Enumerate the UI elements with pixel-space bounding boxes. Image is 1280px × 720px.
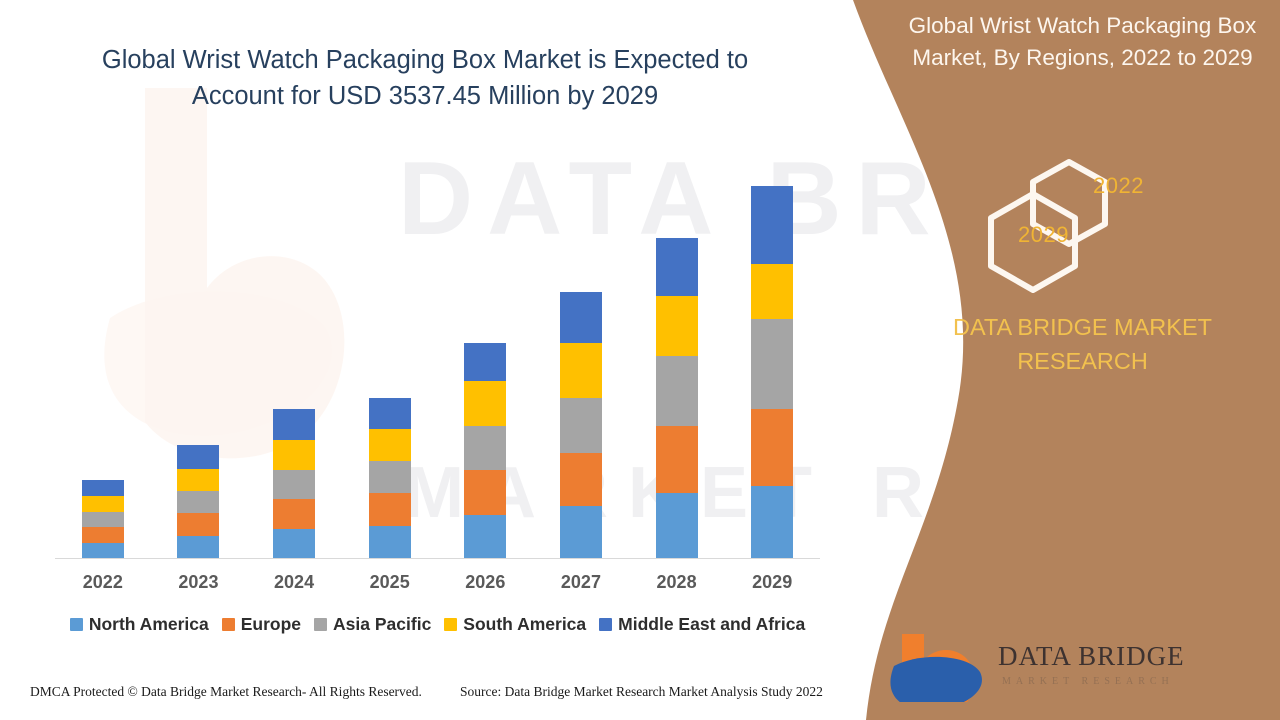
hexagon-label-2029: 2029 <box>1018 222 1069 248</box>
bar-segment[interactable] <box>751 186 793 264</box>
bar-segment[interactable] <box>273 470 315 499</box>
hexagon-pair-icon <box>985 140 1185 300</box>
bar-segment[interactable] <box>751 409 793 486</box>
bar-group[interactable] <box>82 480 124 558</box>
bar-segment[interactable] <box>751 319 793 409</box>
x-axis-tick: 2027 <box>560 572 602 593</box>
bar-segment[interactable] <box>369 526 411 558</box>
bar-segment[interactable] <box>369 429 411 461</box>
legend-swatch-icon <box>599 618 612 631</box>
legend-item[interactable]: Europe <box>222 614 301 635</box>
logo-wordmark: DATA BRIDGE <box>998 641 1185 672</box>
x-axis-tick: 2024 <box>273 572 315 593</box>
bar-segment[interactable] <box>751 486 793 558</box>
bar-segment[interactable] <box>82 527 124 543</box>
legend-swatch-icon <box>222 618 235 631</box>
bar-segment[interactable] <box>656 238 698 296</box>
bar-segment[interactable] <box>464 515 506 558</box>
legend-item[interactable]: Middle East and Africa <box>599 614 805 635</box>
bar-segment[interactable] <box>656 356 698 426</box>
bar-segment[interactable] <box>273 499 315 529</box>
bar-segment[interactable] <box>273 440 315 470</box>
bar-segment[interactable] <box>273 529 315 558</box>
x-axis-labels: 20222023202420252026202720282029 <box>55 572 820 593</box>
hexagon-label-2022: 2022 <box>1093 173 1144 199</box>
bar-segment[interactable] <box>464 343 506 381</box>
bar-segment[interactable] <box>560 398 602 453</box>
bar-segment[interactable] <box>751 264 793 319</box>
chart-legend: North AmericaEuropeAsia PacificSouth Ame… <box>55 614 820 635</box>
bar-group[interactable] <box>464 343 506 558</box>
bar-segment[interactable] <box>177 513 219 536</box>
bar-segment[interactable] <box>82 496 124 512</box>
bar-group[interactable] <box>560 292 602 558</box>
bar-group[interactable] <box>369 398 411 558</box>
bar-group[interactable] <box>656 238 698 558</box>
x-axis-tick: 2022 <box>82 572 124 593</box>
bar-segment[interactable] <box>656 493 698 558</box>
legend-label: Middle East and Africa <box>618 614 805 635</box>
footer-source: Source: Data Bridge Market Research Mark… <box>460 684 823 700</box>
bar-segment[interactable] <box>560 506 602 558</box>
legend-item[interactable]: South America <box>444 614 586 635</box>
chart-plot-area <box>55 150 820 559</box>
bar-segment[interactable] <box>560 343 602 398</box>
page-title: Global Wrist Watch Packaging Box Market … <box>60 42 790 114</box>
legend-label: North America <box>89 614 209 635</box>
bar-segment[interactable] <box>177 469 219 491</box>
bar-group[interactable] <box>751 186 793 558</box>
bar-segment[interactable] <box>369 398 411 429</box>
bar-segment[interactable] <box>560 292 602 343</box>
legend-label: Europe <box>241 614 301 635</box>
brand-name: DATA BRIDGE MARKET RESEARCH <box>900 310 1265 378</box>
bar-segment[interactable] <box>656 426 698 493</box>
x-axis-tick: 2025 <box>369 572 411 593</box>
legend-item[interactable]: Asia Pacific <box>314 614 431 635</box>
logo-subtitle: MARKET RESEARCH <box>1002 676 1174 687</box>
bar-group[interactable] <box>273 409 315 558</box>
bar-segment[interactable] <box>273 409 315 440</box>
bar-segment[interactable] <box>82 480 124 496</box>
bar-group[interactable] <box>177 445 219 558</box>
bar-segment[interactable] <box>369 493 411 526</box>
bar-segment[interactable] <box>177 445 219 469</box>
panel-title: Global Wrist Watch Packaging Box Market,… <box>890 10 1275 74</box>
legend-label: South America <box>463 614 586 635</box>
legend-swatch-icon <box>70 618 83 631</box>
footer-copyright: DMCA Protected © Data Bridge Market Rese… <box>30 684 422 700</box>
bar-segment[interactable] <box>177 491 219 513</box>
legend-label: Asia Pacific <box>333 614 431 635</box>
legend-swatch-icon <box>314 618 327 631</box>
bar-segment[interactable] <box>369 461 411 493</box>
bar-segment[interactable] <box>464 426 506 470</box>
bar-segment[interactable] <box>177 536 219 558</box>
x-axis-tick: 2029 <box>751 572 793 593</box>
x-axis-tick: 2028 <box>656 572 698 593</box>
legend-swatch-icon <box>444 618 457 631</box>
x-axis-tick: 2023 <box>177 572 219 593</box>
infographic-page: DATA BRIDGE MARKET RESEARCH Global Wrist… <box>0 0 1280 720</box>
x-axis-tick: 2026 <box>464 572 506 593</box>
bar-segment[interactable] <box>82 543 124 558</box>
legend-item[interactable]: North America <box>70 614 209 635</box>
x-axis-line <box>55 558 820 559</box>
bar-segment[interactable] <box>82 512 124 527</box>
bar-segment[interactable] <box>560 453 602 506</box>
bar-segment[interactable] <box>656 296 698 356</box>
bar-series-container <box>55 150 820 558</box>
bar-segment[interactable] <box>464 470 506 515</box>
bar-segment[interactable] <box>464 381 506 426</box>
brand-panel-content: Global Wrist Watch Packaging Box Market,… <box>880 0 1280 720</box>
